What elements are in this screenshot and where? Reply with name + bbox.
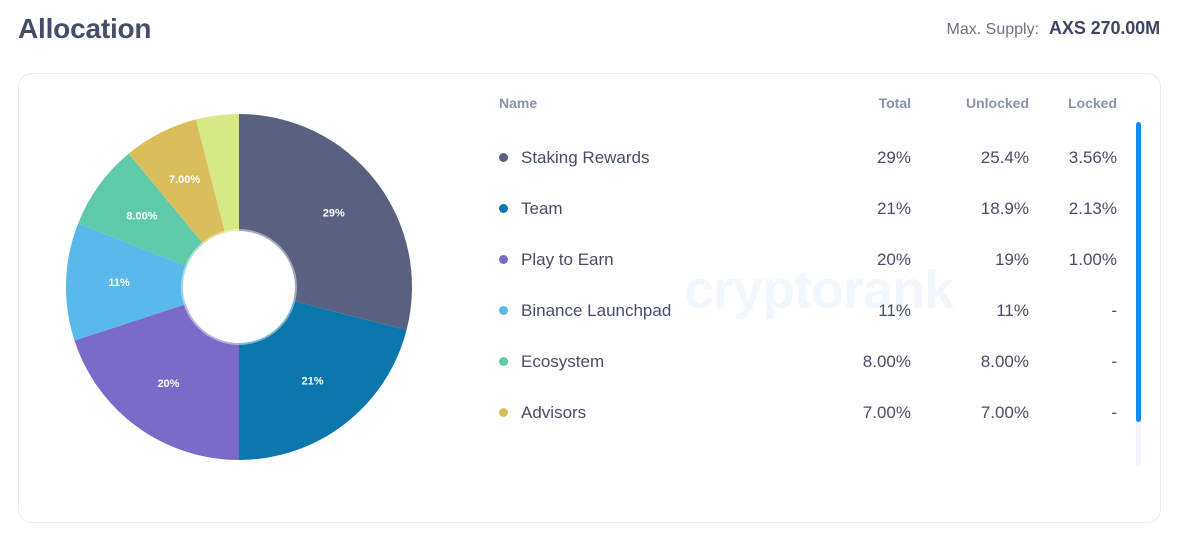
row-total-cell: 11% <box>809 285 919 336</box>
row-total-cell: 7.00% <box>809 387 919 438</box>
row-locked-cell: 3.56% <box>1039 132 1139 183</box>
row-unlocked-cell: 8.00% <box>919 336 1039 387</box>
legend-dot-icon <box>499 255 508 264</box>
row-name-cell: Team <box>479 183 809 234</box>
row-name-label: Advisors <box>521 403 586 423</box>
row-total-cell: 21% <box>809 183 919 234</box>
legend-dot-icon <box>499 357 508 366</box>
column-header-locked[interactable]: Locked <box>1039 74 1139 132</box>
row-name-label: Ecosystem <box>521 352 604 372</box>
table-row[interactable]: Play to Earn20%19%1.00% <box>479 234 1139 285</box>
row-total-cell: 29% <box>809 132 919 183</box>
allocation-page: Allocation Max. Supply: AXS 270.00M 29%2… <box>0 0 1193 553</box>
allocation-table-area: cryptorank Name Total Unlocked Locked St… <box>479 74 1162 524</box>
donut-slice-label: 7.00% <box>169 174 200 186</box>
row-unlocked-cell: 11% <box>919 285 1039 336</box>
max-supply-label: Max. Supply: <box>947 21 1039 39</box>
table-scrollbar-track[interactable] <box>1136 122 1141 466</box>
table-header: Name Total Unlocked Locked <box>479 74 1139 132</box>
row-locked-cell: - <box>1039 285 1139 336</box>
column-header-total[interactable]: Total <box>809 74 919 132</box>
row-name-cell: Play to Earn <box>479 234 809 285</box>
row-name-label: Binance Launchpad <box>521 301 671 321</box>
row-locked-cell: - <box>1039 336 1139 387</box>
page-header: Allocation Max. Supply: AXS 270.00M <box>0 0 1193 73</box>
table-row[interactable]: Ecosystem8.00%8.00%- <box>479 336 1139 387</box>
row-total-cell: 20% <box>809 234 919 285</box>
table-row[interactable]: Binance Launchpad11%11%- <box>479 285 1139 336</box>
row-name-label: Team <box>521 199 563 219</box>
legend-dot-icon <box>499 306 508 315</box>
donut-svg[interactable]: 29%21%20%11%8.00%7.00% <box>66 114 412 460</box>
donut-slice-label: 11% <box>108 277 130 289</box>
max-supply: Max. Supply: AXS 270.00M <box>947 18 1160 39</box>
row-name-label: Play to Earn <box>521 250 614 270</box>
donut-slice-label: 21% <box>302 376 324 388</box>
row-locked-cell: - <box>1039 387 1139 438</box>
allocation-donut-chart: 29%21%20%11%8.00%7.00% <box>19 74 479 524</box>
donut-slice-label: 8.00% <box>126 210 157 222</box>
allocation-table: Name Total Unlocked Locked Staking Rewar… <box>479 74 1139 438</box>
row-name-cell: Ecosystem <box>479 336 809 387</box>
donut-center-hole <box>191 239 287 335</box>
max-supply-value: AXS 270.00M <box>1049 18 1160 39</box>
row-locked-cell: 2.13% <box>1039 183 1139 234</box>
table-scrollbar-thumb[interactable] <box>1136 122 1141 422</box>
table-row[interactable]: Staking Rewards29%25.4%3.56% <box>479 132 1139 183</box>
page-title: Allocation <box>18 13 151 45</box>
row-unlocked-cell: 18.9% <box>919 183 1039 234</box>
row-name-cell: Advisors <box>479 387 809 438</box>
table-body: Staking Rewards29%25.4%3.56%Team21%18.9%… <box>479 132 1139 438</box>
legend-dot-icon <box>499 153 508 162</box>
row-total-cell: 8.00% <box>809 336 919 387</box>
allocation-card: 29%21%20%11%8.00%7.00% cryptorank Name T… <box>18 73 1161 523</box>
donut-slice-label: 20% <box>157 378 179 390</box>
row-name-cell: Staking Rewards <box>479 132 809 183</box>
table-header-row: Name Total Unlocked Locked <box>479 74 1139 132</box>
row-locked-cell: 1.00% <box>1039 234 1139 285</box>
table-row[interactable]: Team21%18.9%2.13% <box>479 183 1139 234</box>
column-header-name[interactable]: Name <box>479 74 809 132</box>
column-header-unlocked[interactable]: Unlocked <box>919 74 1039 132</box>
row-unlocked-cell: 19% <box>919 234 1039 285</box>
table-row[interactable]: Advisors7.00%7.00%- <box>479 387 1139 438</box>
legend-dot-icon <box>499 408 508 417</box>
row-name-label: Staking Rewards <box>521 148 650 168</box>
row-name-cell: Binance Launchpad <box>479 285 809 336</box>
row-unlocked-cell: 7.00% <box>919 387 1039 438</box>
legend-dot-icon <box>499 204 508 213</box>
donut-slice-label: 29% <box>323 207 345 219</box>
row-unlocked-cell: 25.4% <box>919 132 1039 183</box>
